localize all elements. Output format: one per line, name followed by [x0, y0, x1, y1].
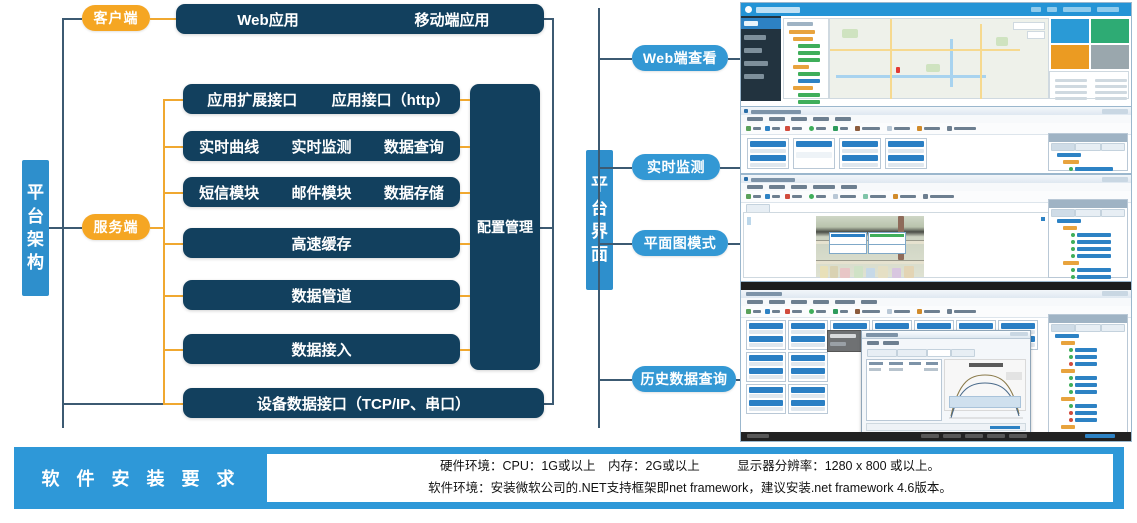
s4-grid-header-3	[926, 362, 938, 365]
s1-detail-row-6	[1055, 97, 1087, 100]
s4-tree-dot-5	[1069, 390, 1073, 394]
config-box-right-stub	[540, 227, 554, 229]
s4-card-1-title2	[791, 336, 825, 342]
server-box-monitoring-item-2: 数据查询	[368, 136, 460, 157]
s4-grid-header-0	[869, 362, 883, 365]
s4-tree-leaf-5[interactable]	[1075, 390, 1097, 394]
config-stub-5	[460, 295, 470, 297]
server-rail-stub-3	[163, 192, 183, 194]
s3-window-icon	[744, 177, 748, 181]
connector-client-to-box	[150, 18, 176, 20]
s4-export-icon[interactable]	[833, 309, 838, 314]
s4-card-9-value2	[749, 407, 783, 411]
server-box-cache-label: 高速缓存	[291, 233, 351, 254]
s2-tree-tab-0[interactable]	[1051, 143, 1075, 151]
s1-tree-node-10[interactable]	[798, 100, 820, 104]
s2-export-label	[840, 127, 848, 130]
s2-user-icon[interactable]	[947, 126, 952, 131]
ui-node-stub-3	[598, 243, 632, 245]
server-box-messaging: 短信模块 邮件模块 数据存储	[183, 177, 460, 207]
ui-node-web-view[interactable]: Web端查看	[632, 45, 728, 71]
s1-map-river-2	[950, 39, 953, 87]
s1-tree-node-2[interactable]	[798, 44, 820, 48]
s3-window-caption	[751, 178, 795, 182]
s4-dialog-menu-1[interactable]	[883, 341, 899, 345]
ui-node-stub-1	[598, 58, 632, 60]
s2-card-3-value2	[888, 163, 924, 167]
s1-topright-a	[1031, 7, 1041, 12]
s3-alarm-label	[792, 195, 802, 198]
s1-sidebar-item-4[interactable]	[744, 74, 764, 79]
server-rail-vertical	[163, 99, 165, 404]
s3-goods-3	[854, 266, 863, 278]
s2-card-2-title	[842, 141, 878, 147]
s1-detail-row-1	[1095, 79, 1127, 82]
s1-detail-row-7	[1095, 97, 1127, 100]
s4-chart-rangebar[interactable]	[949, 396, 1021, 408]
s4-stop-icon[interactable]	[765, 309, 770, 314]
s2-menu-item-2[interactable]	[791, 117, 807, 121]
s2-card-3-title2	[888, 155, 924, 161]
s3-tree-leaf-0[interactable]	[1077, 233, 1111, 237]
s4-context-menu[interactable]	[827, 330, 863, 352]
software-requirements-banner: 软 件 安 装 要 求 硬件环境：CPU：1G或以上 内存：2G或以上 显示器分…	[14, 447, 1124, 509]
s4-card-3-title	[875, 323, 909, 329]
s4-card-6-title	[1001, 323, 1035, 329]
s3-user-label	[930, 195, 954, 198]
s4-tree-tab-0[interactable]	[1051, 324, 1075, 332]
server-box-pipeline-label: 数据管道	[291, 285, 351, 306]
s4-card-7-title	[749, 355, 783, 361]
s1-map-road-2	[980, 24, 982, 99]
s2-menu-item-1[interactable]	[769, 117, 785, 121]
s4-card-8-value2	[791, 375, 825, 379]
screenshot-realtime-monitor[interactable]	[740, 106, 1132, 174]
s1-sidebar-item-1[interactable]	[744, 35, 766, 40]
ui-node-stub-4	[598, 379, 632, 381]
s4-device-tree-pane[interactable]	[1048, 314, 1128, 437]
server-box-cache: 高速缓存	[183, 228, 460, 258]
s2-sensor-card-2[interactable]	[839, 138, 881, 169]
arch-char-3: 构	[27, 251, 44, 274]
s3-menu-item-1[interactable]	[769, 185, 785, 189]
s3-tree-tab-1[interactable]	[1075, 209, 1101, 217]
s1-sidebar-item-0[interactable]	[744, 21, 758, 26]
s4-history-dialog[interactable]	[861, 330, 1031, 434]
platform-architecture-bar: 平 台 架 构	[22, 160, 49, 296]
s4-tree-leaf-0[interactable]	[1075, 348, 1097, 352]
s1-device-tree[interactable]	[783, 18, 829, 99]
s3-tree-leaf-2[interactable]	[1077, 247, 1111, 251]
s2-user-label	[954, 127, 976, 130]
s4-card-10-title	[791, 387, 825, 393]
s1-logo-icon	[745, 6, 752, 13]
s3-device-tree-pane[interactable]	[1048, 199, 1128, 278]
s4-card-2-title	[833, 323, 867, 329]
s3-stop-label	[772, 195, 780, 198]
s4-status-chip-3	[965, 434, 983, 438]
s4-sensor-card-9[interactable]	[746, 384, 786, 414]
s1-tree-node-8[interactable]	[793, 86, 813, 90]
s4-refresh-label	[816, 310, 826, 313]
s4-tree-leaf-7[interactable]	[1075, 411, 1097, 415]
s3-map-label	[900, 195, 916, 198]
s2-tree-header	[1049, 134, 1127, 142]
s2-play-label	[753, 127, 761, 130]
server-rail-stub-7	[163, 403, 183, 405]
s3-tree-dot-1	[1071, 240, 1075, 244]
s4-tree-leaf-3[interactable]	[1075, 376, 1097, 380]
s1-topright-c	[1063, 7, 1091, 12]
screenshot-floorplan[interactable]	[740, 174, 1132, 282]
s4-card-5-title	[959, 323, 993, 329]
s4-sensor-card-8[interactable]	[788, 352, 828, 382]
s4-card-9-value	[749, 394, 783, 398]
arch-char-0: 平	[27, 181, 44, 204]
s4-menu-item-5[interactable]	[861, 300, 877, 304]
s4-window-caption	[746, 292, 782, 296]
s3-tree-leaf-4[interactable]	[1077, 268, 1111, 272]
s4-card-10-value2	[791, 407, 825, 411]
s4-tree-header	[1049, 315, 1127, 323]
s2-alarm-icon[interactable]	[785, 126, 790, 131]
s2-menu-item-3[interactable]	[813, 117, 829, 121]
s1-tree-header	[787, 22, 813, 26]
s4-filter-label	[894, 310, 910, 313]
architecture-diagram-page: 平 台 架 构 客户端 服务端 Web应用 移动端应用 应用扩展接口 应用接口（…	[0, 0, 1137, 523]
s3-tree-group-0[interactable]	[1063, 226, 1077, 230]
config-stub-1	[460, 99, 470, 101]
s1-kpi-alarm[interactable]	[1051, 45, 1089, 69]
s3-map-icon[interactable]	[893, 194, 898, 199]
s1-map-marker[interactable]	[896, 67, 900, 73]
spine-vertical-right	[552, 18, 554, 404]
s2-card-0-value2	[750, 163, 786, 167]
s4-settings-icon[interactable]	[855, 309, 860, 314]
s1-tree-node-6[interactable]	[798, 72, 820, 76]
s4-tree-tab-2[interactable]	[1101, 324, 1125, 332]
s4-card-9-title	[749, 387, 783, 393]
s4-map-icon[interactable]	[917, 309, 922, 314]
s3-tree-dot-4	[1071, 268, 1075, 272]
s3-filter-label	[840, 195, 856, 198]
branch-to-server-tier	[62, 227, 82, 229]
s4-card-8-title2	[791, 368, 825, 374]
s4-chart-title	[969, 363, 1003, 367]
s2-tree-leaf-0[interactable]	[1075, 167, 1113, 171]
s1-topright-d	[1097, 7, 1119, 12]
s4-card-10-title2	[791, 400, 825, 406]
ui-node-floorplan-mode[interactable]: 平面图模式	[632, 230, 728, 256]
s1-tree-node-0[interactable]	[789, 30, 815, 34]
s4-dialog-caption	[866, 333, 898, 337]
s4-status-link[interactable]	[1085, 434, 1115, 438]
s4-card-7-title2	[749, 368, 783, 374]
arch-char-1: 台	[27, 205, 44, 228]
s2-sensor-card-3[interactable]	[885, 138, 927, 169]
s3-sensor-tag-2[interactable]	[829, 244, 867, 254]
requirement-line-software: 软件环境：安装微软公司的.NET支持框架即net framework，建议安装.…	[277, 478, 1103, 500]
s3-sensor-tag-1-header	[870, 234, 904, 237]
server-box-api-item-0: 应用扩展接口	[183, 89, 322, 110]
s3-tree-leaf-1[interactable]	[1077, 240, 1111, 244]
s2-export-icon[interactable]	[833, 126, 838, 131]
device-data-interface-box: 设备数据接口（TCP/IP、串口）	[183, 388, 544, 418]
s4-grid-row-0-c	[924, 368, 938, 371]
s1-tree-node-3[interactable]	[798, 51, 820, 55]
s2-play-icon[interactable]	[746, 126, 751, 131]
s3-user-icon[interactable]	[923, 194, 928, 199]
s2-stop-icon[interactable]	[765, 126, 770, 131]
server-rail-stub-6	[163, 349, 183, 351]
s3-window-controls[interactable]	[1102, 177, 1128, 182]
s2-sensor-card-0[interactable]	[747, 138, 789, 169]
s3-sensor-tag-3[interactable]	[868, 244, 906, 254]
s1-map-legend[interactable]	[1013, 22, 1045, 30]
s4-tree-leaf-8[interactable]	[1075, 418, 1097, 422]
s2-settings-icon[interactable]	[855, 126, 860, 131]
s4-tree-dot-8	[1069, 418, 1073, 422]
s3-canvas[interactable]	[743, 212, 1049, 278]
s3-tree-tab-2[interactable]	[1101, 209, 1125, 217]
s4-alarm-label	[792, 310, 802, 313]
connector-server-to-rail	[150, 227, 164, 229]
s4-sensor-card-1[interactable]	[788, 320, 828, 350]
s3-tree-header	[1049, 200, 1127, 208]
s4-tree-leaf-1[interactable]	[1075, 355, 1097, 359]
s2-tree-tab-2[interactable]	[1101, 143, 1125, 151]
s1-tree-node-1[interactable]	[793, 37, 813, 41]
tier-label-server[interactable]: 服务端	[82, 214, 150, 240]
s4-tree-group-3[interactable]	[1061, 425, 1075, 429]
s4-card-0-title	[749, 323, 783, 329]
s1-map-river	[836, 75, 986, 78]
s2-refresh-icon[interactable]	[809, 126, 814, 131]
s4-tree-root[interactable]	[1055, 334, 1079, 338]
arch-char-2: 架	[27, 228, 44, 251]
s2-tree-group-0[interactable]	[1063, 160, 1079, 164]
s2-card-3-title	[888, 141, 924, 147]
s2-window-controls[interactable]	[1102, 109, 1128, 114]
s2-alarm-label	[792, 127, 802, 130]
s4-context-menu-item-1[interactable]	[830, 342, 846, 346]
s3-goods-5	[878, 266, 888, 278]
s1-kpi-offline[interactable]	[1091, 45, 1129, 69]
s4-alarm-icon[interactable]	[785, 309, 790, 314]
s4-menu-item-2[interactable]	[791, 300, 807, 304]
s4-card-7-value	[749, 362, 783, 366]
server-rail-stub-2	[163, 146, 183, 148]
config-stub-2	[460, 146, 470, 148]
s4-tree-leaf-2[interactable]	[1075, 362, 1097, 366]
ui-node-stub-2	[598, 167, 632, 169]
server-box-ingest-label: 数据接入	[291, 339, 351, 360]
s4-card-0-value2	[749, 343, 783, 347]
s1-tree-node-7[interactable]	[798, 79, 820, 83]
s4-tree-tab-1[interactable]	[1075, 324, 1101, 332]
s1-tree-node-9[interactable]	[798, 93, 820, 97]
s4-menu-item-0[interactable]	[747, 300, 763, 304]
s4-desktop-strip	[741, 282, 1131, 290]
s3-menu-item-2[interactable]	[791, 185, 807, 189]
s1-kpi-normal[interactable]	[1091, 19, 1129, 43]
s4-filter-icon[interactable]	[887, 309, 892, 314]
s1-detail-row-4	[1055, 91, 1087, 94]
s4-tree-dot-0	[1069, 348, 1073, 352]
s4-dialog-tab-1[interactable]	[897, 349, 927, 357]
s3-menu-item-0[interactable]	[747, 185, 763, 189]
s1-kpi-online[interactable]	[1051, 19, 1089, 43]
server-box-api: 应用扩展接口 应用接口（http）	[183, 84, 460, 114]
s2-sensor-card-1[interactable]	[793, 138, 835, 169]
ui-node-history-query[interactable]: 历史数据查询	[632, 366, 736, 392]
s4-card-1-value2	[791, 343, 825, 347]
ui-node-realtime-to-shot	[720, 167, 740, 169]
s3-goods-7	[904, 266, 914, 278]
tier-label-client-text: 客户端	[94, 8, 139, 28]
s2-device-tree-pane[interactable]	[1048, 133, 1128, 171]
tier-label-client[interactable]: 客户端	[82, 5, 150, 31]
s4-tree-leaf-4[interactable]	[1075, 383, 1097, 387]
s3-menu-item-4[interactable]	[841, 185, 857, 189]
s4-dialog-data-grid[interactable]	[866, 359, 942, 421]
s3-tree-leaf-3[interactable]	[1077, 254, 1111, 258]
software-requirements-box: 硬件环境：CPU：1G或以上 内存：2G或以上 显示器分辨率：1280 x 80…	[266, 453, 1114, 503]
s2-card-1-title	[796, 141, 832, 147]
s2-filter-icon[interactable]	[887, 126, 892, 131]
s1-detail-row-3	[1095, 85, 1127, 88]
s2-card-2-value	[842, 149, 878, 153]
s1-detail-row-2	[1055, 85, 1087, 88]
s4-status-chip-0	[747, 434, 769, 438]
s4-dialog-chart[interactable]	[944, 359, 1026, 411]
s4-dialog-tab-3[interactable]	[951, 349, 975, 357]
screenshot-history-query[interactable]	[740, 281, 1132, 442]
s4-menu-item-4[interactable]	[835, 300, 855, 304]
s3-tree-root[interactable]	[1057, 219, 1081, 223]
s3-menu-item-3[interactable]	[813, 185, 835, 189]
s4-grid-header-1	[889, 362, 903, 365]
s4-statusbar	[741, 432, 1131, 441]
server-box-api-item-1: 应用接口（http）	[322, 89, 461, 110]
s4-tree-dot-1	[1069, 355, 1073, 359]
s4-dialog-status-link[interactable]	[990, 426, 1020, 429]
s3-filter-icon[interactable]	[833, 194, 838, 199]
s2-map-icon[interactable]	[917, 126, 922, 131]
s2-menu-item-0[interactable]	[747, 117, 763, 121]
s2-settings-label	[862, 127, 880, 130]
s4-play-icon[interactable]	[746, 309, 751, 314]
s4-menu-item-1[interactable]	[769, 300, 785, 304]
s3-floorplan-icon[interactable]	[863, 194, 868, 199]
s1-map-zoom[interactable]	[1027, 31, 1045, 39]
s4-dialog-menu-0[interactable]	[867, 341, 879, 345]
s3-tree-group-1[interactable]	[1063, 261, 1079, 265]
s4-refresh-icon[interactable]	[809, 309, 814, 314]
branch-to-client-tier	[62, 18, 82, 20]
s3-tree-tab-0[interactable]	[1051, 209, 1075, 217]
s1-map-road-1	[830, 49, 1020, 51]
s4-user-icon[interactable]	[947, 309, 952, 314]
s3-goods-2	[840, 268, 850, 278]
s4-sensor-card-10[interactable]	[788, 384, 828, 414]
s4-grid-row-0[interactable]	[869, 368, 881, 371]
s3-tree-leaf-5[interactable]	[1077, 275, 1111, 279]
s1-sidebar-item-3[interactable]	[744, 61, 768, 66]
s4-card-8-title	[791, 355, 825, 361]
server-rail-stub-5	[163, 295, 183, 297]
s4-grid-header-2	[909, 362, 921, 365]
s1-sidebar-item-2[interactable]	[744, 48, 762, 53]
server-box-messaging-item-1: 邮件模块	[275, 182, 367, 203]
device-box-right-stub	[543, 403, 554, 405]
s1-app-title	[756, 7, 800, 13]
s4-tree-group-1[interactable]	[1061, 369, 1075, 373]
s3-refresh-icon[interactable]	[809, 194, 814, 199]
s2-filter-label	[894, 127, 910, 130]
s3-shelf-1	[816, 260, 924, 264]
s4-card-9-title2	[749, 400, 783, 406]
server-box-monitoring: 实时曲线 实时监测 数据查询	[183, 131, 460, 161]
s4-tree-group-2[interactable]	[1061, 397, 1075, 401]
s4-tree-group-0[interactable]	[1061, 341, 1075, 345]
s3-tree-dot-0	[1071, 233, 1075, 237]
ui-node-rail	[598, 58, 600, 380]
config-management-label: 配置管理	[477, 217, 533, 237]
s2-tree-root[interactable]	[1057, 153, 1081, 157]
s4-sensor-card-0[interactable]	[746, 320, 786, 350]
s1-map-park-3	[996, 37, 1008, 46]
s1-map-park-1	[842, 29, 858, 38]
ui-node-web-view-to-shot	[728, 58, 740, 60]
s3-left-handle[interactable]	[747, 217, 751, 225]
s4-menu-item-3[interactable]	[813, 300, 829, 304]
s1-tree-node-4[interactable]	[798, 58, 820, 62]
s3-play-icon[interactable]	[746, 194, 751, 199]
s2-card-3-value	[888, 149, 924, 153]
s2-tree-dot-0	[1069, 167, 1073, 171]
s4-chart-curves	[945, 368, 1027, 420]
s4-card-1-title	[791, 323, 825, 329]
s3-right-handle[interactable]	[1041, 217, 1045, 221]
s4-card-4-title	[917, 323, 951, 329]
s4-dialog-controls[interactable]	[1010, 332, 1028, 336]
s1-map-canvas[interactable]	[829, 18, 1049, 99]
ui-node-realtime-monitor[interactable]: 实时监测	[632, 154, 720, 180]
s4-stop-label	[772, 310, 780, 313]
s4-card-7-value2	[749, 375, 783, 379]
screenshot-web-dashboard[interactable]	[740, 2, 1132, 108]
s3-stop-icon[interactable]	[765, 194, 770, 199]
s1-sidebar[interactable]	[741, 16, 781, 101]
s3-alarm-icon[interactable]	[785, 194, 790, 199]
s3-tree-dot-2	[1071, 247, 1075, 251]
s2-tree-tab-1[interactable]	[1075, 143, 1101, 151]
s4-dialog-tab-2[interactable]	[927, 349, 951, 357]
s4-window-controls[interactable]	[1102, 291, 1128, 296]
s4-card-0-title2	[749, 336, 783, 342]
s4-tree-dot-2	[1069, 362, 1073, 366]
s4-dialog-tab-0[interactable]	[867, 349, 897, 357]
s2-menu-item-4[interactable]	[835, 117, 851, 121]
s4-tree-leaf-6[interactable]	[1075, 404, 1097, 408]
s1-tree-node-5[interactable]	[793, 65, 809, 69]
s3-goods-0	[820, 266, 828, 278]
requirement-line-hardware: 硬件环境：CPU：1G或以上 内存：2G或以上 显示器分辨率：1280 x 80…	[277, 456, 1103, 478]
s4-sensor-card-7[interactable]	[746, 352, 786, 382]
s3-tree-dot-5	[1071, 275, 1075, 279]
s4-context-menu-item-0[interactable]	[830, 334, 856, 338]
